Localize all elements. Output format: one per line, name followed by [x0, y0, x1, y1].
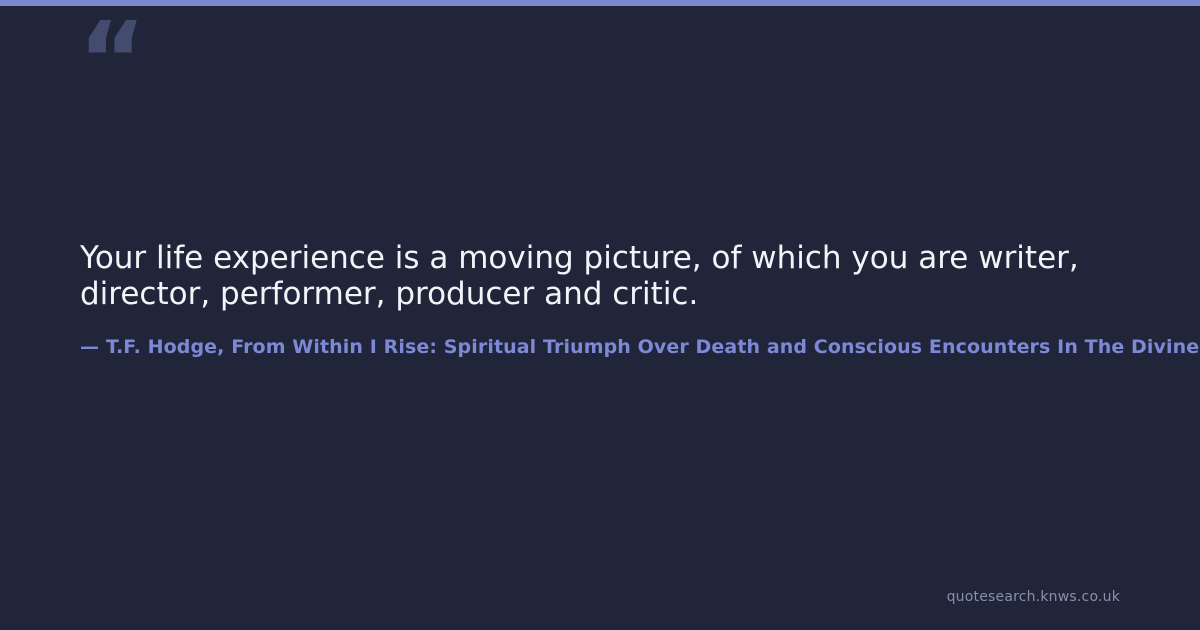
quote-attribution: — T.F. Hodge, From Within I Rise: Spirit…	[80, 334, 1200, 360]
quote-card: “ Your life experience is a moving pictu…	[0, 0, 1200, 630]
top-accent-bar	[0, 0, 1200, 6]
quote-content: Your life experience is a moving picture…	[80, 240, 1200, 360]
site-watermark: quotesearch.knws.co.uk	[947, 589, 1120, 605]
quote-text: Your life experience is a moving picture…	[80, 240, 1120, 312]
quotation-mark-icon: “	[78, 8, 144, 112]
